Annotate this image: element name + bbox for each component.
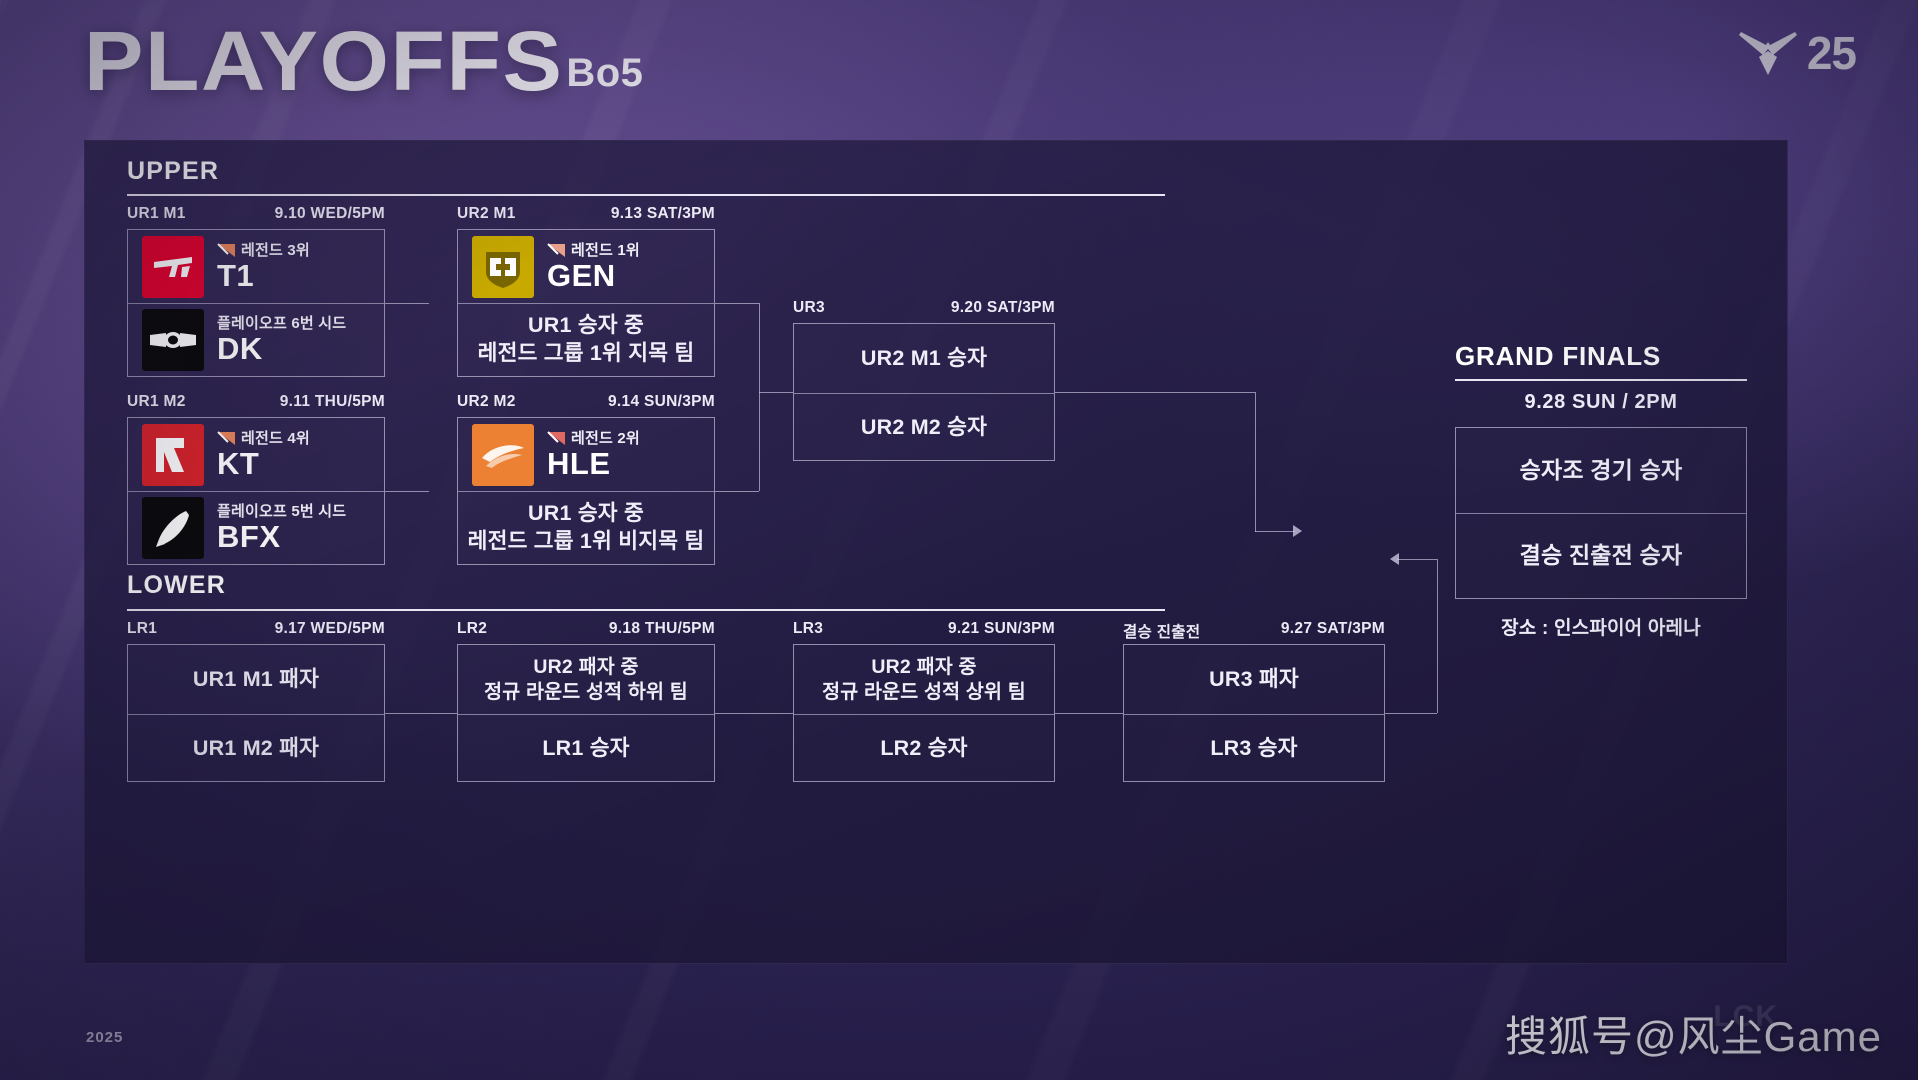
slot-line-1: LR3 승자 xyxy=(1210,735,1297,763)
slot-line-2: 레전드 그룹 1위 지목 팀 xyxy=(478,340,695,368)
seed-flag-icon xyxy=(547,243,566,258)
slot-line-1: 승자조 경기 승자 xyxy=(1520,456,1683,485)
slot-line-2: 레전드 그룹 1위 비지목 팀 xyxy=(468,528,705,556)
upper-section-title: UPPER xyxy=(127,157,219,186)
seed-label: 레전드 3위 xyxy=(241,243,310,258)
match-label-lr3: LR3 xyxy=(793,620,823,638)
seed-label: 플레이오프 6번 시드 xyxy=(217,316,346,331)
page-title: PLAYOFFS xyxy=(84,22,563,102)
grand-finals-box[interactable]: 승자조 경기 승자 결승 진출전 승자 xyxy=(1455,427,1747,599)
connector xyxy=(385,491,429,492)
slot-line-1: UR2 패자 중 xyxy=(533,655,638,680)
match-date-lr1: 9.17 WED/5PM xyxy=(275,620,385,638)
connector xyxy=(759,303,760,491)
team-slot[interactable]: 레전드 4위 KT xyxy=(128,418,384,491)
footer-year: 2025 xyxy=(86,1029,123,1046)
connector xyxy=(715,713,793,714)
team-meta: 플레이오프 6번 시드 DK xyxy=(217,316,346,364)
match-date-ur2m2: 9.14 SUN/3PM xyxy=(608,393,715,411)
seed-label: 레전드 2위 xyxy=(571,431,640,446)
team-meta: 플레이오프 5번 시드 BFX xyxy=(217,504,346,552)
connector xyxy=(1397,559,1437,560)
match-date-lrf: 9.27 SAT/3PM xyxy=(1281,620,1385,642)
seed-row: 레전드 2위 xyxy=(547,431,640,446)
team-name: KT xyxy=(217,448,259,479)
slot-line-1: UR2 M1 승자 xyxy=(861,345,987,373)
team-slot[interactable]: 플레이오프 5번 시드 BFX xyxy=(128,491,384,564)
match-box-ur2m2[interactable]: 레전드 2위 HLE UR1 승자 중 레전드 그룹 1위 비지목 팀 xyxy=(457,417,715,565)
placeholder-slot[interactable]: UR1 M2 패자 xyxy=(128,714,384,783)
match-label-ur2m2: UR2 M2 xyxy=(457,393,516,411)
placeholder-slot[interactable]: LR2 승자 xyxy=(794,714,1054,783)
team-name: BFX xyxy=(217,521,281,552)
team-slot[interactable]: 레전드 3위 T1 xyxy=(128,230,384,303)
connector xyxy=(1255,392,1256,532)
placeholder-slot[interactable]: 승자조 경기 승자 xyxy=(1456,428,1746,513)
t1-logo xyxy=(142,236,204,298)
seed-row: 레전드 4위 xyxy=(217,431,310,446)
match-box-lr1[interactable]: UR1 M1 패자 UR1 M2 패자 xyxy=(127,644,385,782)
team-meta: 레전드 4위 KT xyxy=(217,431,310,479)
slot-line-2: 정규 라운드 성적 상위 팀 xyxy=(822,680,1026,705)
seed-row: 레전드 3위 xyxy=(217,243,310,258)
match-box-lr2[interactable]: UR2 패자 중 정규 라운드 성적 하위 팀 LR1 승자 xyxy=(457,644,715,782)
match-header-ur3: UR3 9.20 SAT/3PM xyxy=(793,299,1055,317)
team-slot[interactable]: 레전드 2위 HLE xyxy=(458,418,714,491)
placeholder-slot[interactable]: UR1 승자 중 레전드 그룹 1위 지목 팀 xyxy=(458,303,714,376)
slot-line-1: UR1 M1 패자 xyxy=(193,666,319,694)
match-header-lr3: LR3 9.21 SUN/3PM xyxy=(793,620,1055,638)
team-name: HLE xyxy=(547,448,611,479)
placeholder-slot[interactable]: UR2 M1 승자 xyxy=(794,324,1054,393)
slot-line-1: UR3 패자 xyxy=(1209,666,1299,694)
placeholder-slot[interactable]: UR2 M2 승자 xyxy=(794,393,1054,462)
team-meta: 레전드 1위 GEN xyxy=(547,243,640,291)
slot-line-1: UR1 승자 중 xyxy=(528,500,644,528)
slot-line-1: LR2 승자 xyxy=(880,735,967,763)
slot-line-2: 정규 라운드 성적 하위 팀 xyxy=(484,680,688,705)
match-date-lr2: 9.18 THU/5PM xyxy=(609,620,715,638)
placeholder-slot[interactable]: LR1 승자 xyxy=(458,714,714,783)
connector xyxy=(1437,559,1438,713)
match-box-lrf[interactable]: UR3 패자 LR3 승자 xyxy=(1123,644,1385,782)
match-box-ur2m1[interactable]: 레전드 1위 GEN UR1 승자 중 레전드 그룹 1위 지목 팀 xyxy=(457,229,715,377)
match-label-ur1m2: UR1 M2 xyxy=(127,393,186,411)
match-box-lr3[interactable]: UR2 패자 중 정규 라운드 성적 상위 팀 LR2 승자 xyxy=(793,644,1055,782)
seed-flag-icon xyxy=(547,431,566,446)
match-label-lrf: 결승 진출전 xyxy=(1123,620,1200,642)
seed-label: 레전드 4위 xyxy=(241,431,310,446)
match-date-ur1m2: 9.11 THU/5PM xyxy=(280,393,385,411)
team-name: GEN xyxy=(547,260,616,291)
placeholder-slot[interactable]: LR3 승자 xyxy=(1124,714,1384,783)
team-name: T1 xyxy=(217,260,254,291)
slot-line-1: UR1 승자 중 xyxy=(528,312,644,340)
connector xyxy=(1055,713,1123,714)
connector xyxy=(759,392,793,393)
team-slot[interactable]: 레전드 1위 GEN xyxy=(458,230,714,303)
match-label-lr2: LR2 xyxy=(457,620,487,638)
seed-label: 레전드 1위 xyxy=(571,243,640,258)
match-date-ur3: 9.20 SAT/3PM xyxy=(951,299,1055,317)
connector xyxy=(385,713,457,714)
match-header-ur2m2: UR2 M2 9.14 SUN/3PM xyxy=(457,393,715,411)
gen-logo xyxy=(472,236,534,298)
match-header-lr2: LR2 9.18 THU/5PM xyxy=(457,620,715,638)
connector-arrow-icon xyxy=(1293,525,1302,537)
placeholder-slot[interactable]: UR2 패자 중 정규 라운드 성적 상위 팀 xyxy=(794,645,1054,714)
match-date-ur2m1: 9.13 SAT/3PM xyxy=(611,205,715,223)
team-meta: 레전드 2위 HLE xyxy=(547,431,640,479)
series-format-label: Bo5 xyxy=(566,51,643,102)
league-logo: 25 xyxy=(1737,26,1856,80)
placeholder-slot[interactable]: UR1 M1 패자 xyxy=(128,645,384,714)
dk-logo xyxy=(142,309,204,371)
match-date-lr3: 9.21 SUN/3PM xyxy=(948,620,1055,638)
match-header-lrf: 결승 진출전 9.27 SAT/3PM xyxy=(1123,620,1385,642)
match-box-ur1m2[interactable]: 레전드 4위 KT 플레이오프 5번 시드 BFX xyxy=(127,417,385,565)
seed-flag-icon xyxy=(217,431,236,446)
slot-line-1: UR2 M2 승자 xyxy=(861,414,987,442)
seed-row: 레전드 1위 xyxy=(547,243,640,258)
placeholder-slot[interactable]: UR1 승자 중 레전드 그룹 1위 비지목 팀 xyxy=(458,491,714,564)
connector xyxy=(715,491,759,492)
grand-finals-venue: 장소 : 인스파이어 아레나 xyxy=(1455,613,1747,640)
match-box-ur1m1[interactable]: 레전드 3위 T1 플레이오프 6번 시드 DK xyxy=(127,229,385,377)
match-label-ur3: UR3 xyxy=(793,299,825,317)
seed-label: 플레이오프 5번 시드 xyxy=(217,504,346,519)
match-header-ur1m2: UR1 M2 9.11 THU/5PM xyxy=(127,393,385,411)
bracket-board: UPPER UR1 M1 9.10 WED/5PM 레전드 3위 T1 xyxy=(84,140,1788,964)
placeholder-slot[interactable]: UR2 패자 중 정규 라운드 성적 하위 팀 xyxy=(458,645,714,714)
placeholder-slot[interactable]: UR3 패자 xyxy=(1124,645,1384,714)
connector xyxy=(1385,713,1437,714)
match-box-ur3[interactable]: UR2 M1 승자 UR2 M2 승자 xyxy=(793,323,1055,461)
lower-section-title: LOWER xyxy=(127,571,226,600)
team-meta: 레전드 3위 T1 xyxy=(217,243,310,291)
channel-watermark: 搜狐号@风尘Game xyxy=(1505,1003,1882,1064)
placeholder-slot[interactable]: 결승 진출전 승자 xyxy=(1456,513,1746,598)
match-header-ur2m1: UR2 M1 9.13 SAT/3PM xyxy=(457,205,715,223)
upper-section-rule xyxy=(127,194,1165,196)
connector xyxy=(715,303,759,304)
lck-wing-icon xyxy=(1737,29,1799,77)
connector xyxy=(1055,392,1255,393)
connector xyxy=(1255,531,1295,532)
slot-line-1: LR1 승자 xyxy=(542,735,629,763)
match-header-ur1m1: UR1 M1 9.10 WED/5PM xyxy=(127,205,385,223)
slot-line-1: 결승 진출전 승자 xyxy=(1520,541,1683,570)
slot-line-1: UR2 패자 중 xyxy=(871,655,976,680)
match-label-ur2m1: UR2 M1 xyxy=(457,205,516,223)
match-label-lr1: LR1 xyxy=(127,620,157,638)
match-date-ur1m1: 9.10 WED/5PM xyxy=(275,205,385,223)
match-label-ur1m1: UR1 M1 xyxy=(127,205,186,223)
team-name: DK xyxy=(217,333,263,364)
bfx-logo xyxy=(142,497,204,559)
seed-row: 플레이오프 5번 시드 xyxy=(217,504,346,519)
seed-row: 플레이오프 6번 시드 xyxy=(217,316,346,331)
hle-logo xyxy=(472,424,534,486)
grand-finals-title: GRAND FINALS xyxy=(1455,341,1661,372)
match-header-lr1: LR1 9.17 WED/5PM xyxy=(127,620,385,638)
connector-arrow-icon xyxy=(1390,553,1399,565)
slot-line-1: UR1 M2 패자 xyxy=(193,735,319,763)
logo-year-label: 25 xyxy=(1807,26,1856,80)
kt-logo xyxy=(142,424,204,486)
grand-finals-date: 9.28 SUN / 2PM xyxy=(1455,391,1747,414)
lower-section-rule xyxy=(127,609,1165,611)
team-slot[interactable]: 플레이오프 6번 시드 DK xyxy=(128,303,384,376)
page-header: PLAYOFFS Bo5 xyxy=(84,22,643,102)
seed-flag-icon xyxy=(217,243,236,258)
grand-finals-rule xyxy=(1455,379,1747,381)
connector xyxy=(385,303,429,304)
